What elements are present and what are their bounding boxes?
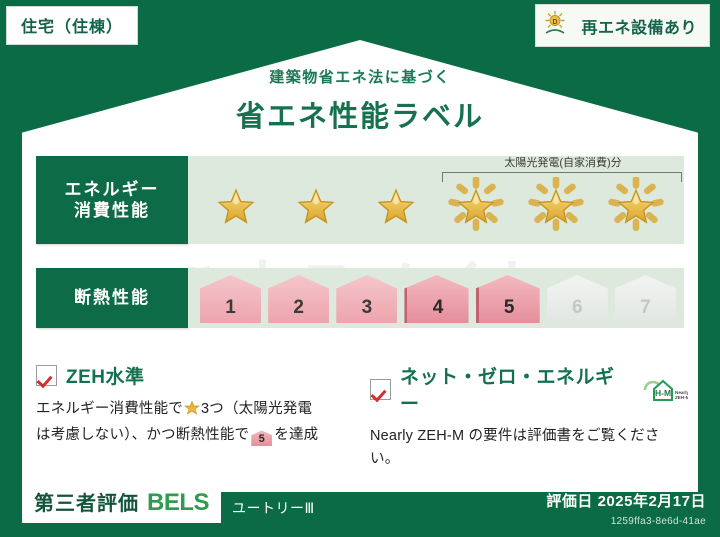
star-3	[367, 177, 429, 239]
zeh-standard-header: ZEH水準	[36, 362, 348, 389]
star-glyph	[287, 177, 345, 235]
insulation-level-2: 2	[268, 275, 329, 323]
insulation-level-5: 5	[476, 275, 540, 323]
zeh-standard-block: ZEH水準 エネルギー消費性能で3つ（太陽光発電 は考慮しない）、かつ断熱性能で…	[36, 362, 348, 448]
svg-text:D: D	[553, 19, 558, 26]
star-glyph	[367, 177, 425, 235]
building-name: ユートリーⅢ	[232, 498, 315, 518]
insulation-row-body: 1234567	[188, 268, 684, 328]
star-6	[607, 177, 669, 239]
energy-label-line2: 消費性能	[74, 200, 150, 221]
star-1	[207, 177, 269, 239]
net-zero-title: ネット・ゼロ・エネルギー	[400, 362, 629, 416]
insulation-level-7: 7	[615, 275, 676, 323]
insulation-label-text: 断熱性能	[74, 287, 150, 308]
star-2	[287, 177, 349, 239]
inline-star-icon	[184, 400, 200, 424]
insulation-performance-row: 断熱性能 1234567	[36, 268, 684, 328]
solar-annotation-label: 太陽光発電(自家消費)分	[440, 154, 686, 170]
energy-label-line1: エネルギー	[65, 179, 160, 200]
footer-bar: 第三者評価 BELS ユートリーⅢ 評価日 2025年2月17日 1259ffa…	[0, 479, 720, 537]
inline-level-badge: 5	[251, 430, 272, 446]
label-uid: 1259ffa3-8e6d-41ae	[611, 516, 706, 527]
energy-row-label: エネルギー 消費性能	[36, 156, 188, 244]
star-rating	[198, 174, 678, 242]
bels-certification-badge: 第三者評価 BELS	[22, 482, 221, 523]
zeh-standard-checkbox-icon[interactable]	[36, 365, 57, 386]
energy-row-body: 太陽光発電(自家消費)分	[188, 156, 684, 244]
bels-logo-text: BELS	[147, 489, 209, 517]
zeh-standard-title: ZEH水準	[66, 362, 145, 389]
zeh-text-c: は考慮しない）、かつ断熱性能で	[36, 427, 249, 443]
star-glyph	[447, 177, 505, 235]
third-party-label: 第三者評価	[34, 487, 139, 516]
insulation-level-6: 6	[547, 275, 608, 323]
star-glyph	[207, 177, 265, 235]
insulation-level-3: 3	[336, 275, 397, 323]
page-title: 省エネ性能ラベル	[0, 93, 720, 135]
star-glyph	[527, 177, 585, 235]
star-glyph	[607, 177, 665, 235]
zeh-m-logo-icon: H-M Nearly ZEH-M	[642, 374, 688, 404]
zeh-text-b: 3つ（太陽光発電	[201, 401, 312, 417]
insulation-level-4: 4	[404, 275, 468, 323]
solar-sun-icon: D	[544, 10, 574, 41]
zeh-text-a: エネルギー消費性能で	[36, 401, 183, 417]
star-5	[527, 177, 589, 239]
zeh-standard-description: エネルギー消費性能で3つ（太陽光発電 は考慮しない）、かつ断熱性能で5を達成	[36, 398, 348, 448]
title-block: 建築物省エネ法に基づく 省エネ性能ラベル	[0, 66, 720, 135]
renewable-equipment-badge: D 再エネ設備あり	[535, 4, 710, 47]
energy-consumption-row: エネルギー 消費性能 太陽光発電(自家消費)分	[36, 156, 684, 244]
zeh-m-logo-sub2: ZEH-M	[675, 395, 688, 400]
evaluation-date: 評価日 2025年2月17日	[546, 490, 706, 511]
net-zero-description: Nearly ZEH-M の要件は評価書をご覧ください。	[370, 425, 688, 472]
star-4	[447, 177, 509, 239]
building-type-tag: 住宅（住棟）	[6, 6, 138, 45]
insulation-level-1: 1	[200, 275, 261, 323]
net-zero-energy-block: ネット・ゼロ・エネルギー H-M Nearly ZEH-M Nearly ZEH…	[370, 362, 688, 472]
zeh-m-logo-label: H-M	[655, 388, 671, 398]
zeh-text-d: を達成	[274, 427, 318, 443]
net-zero-header: ネット・ゼロ・エネルギー H-M Nearly ZEH-M	[370, 362, 688, 416]
energy-performance-label: ハウスメイト 住宅（住棟） D 再エネ設備あり	[0, 0, 720, 537]
renewable-badge-label: 再エネ設備あり	[581, 14, 697, 38]
insulation-level-scale: 1234567	[200, 274, 676, 324]
net-zero-checkbox-icon[interactable]	[370, 379, 391, 400]
insulation-row-label: 断熱性能	[36, 268, 188, 328]
title-subtitle: 建築物省エネ法に基づく	[0, 66, 720, 87]
